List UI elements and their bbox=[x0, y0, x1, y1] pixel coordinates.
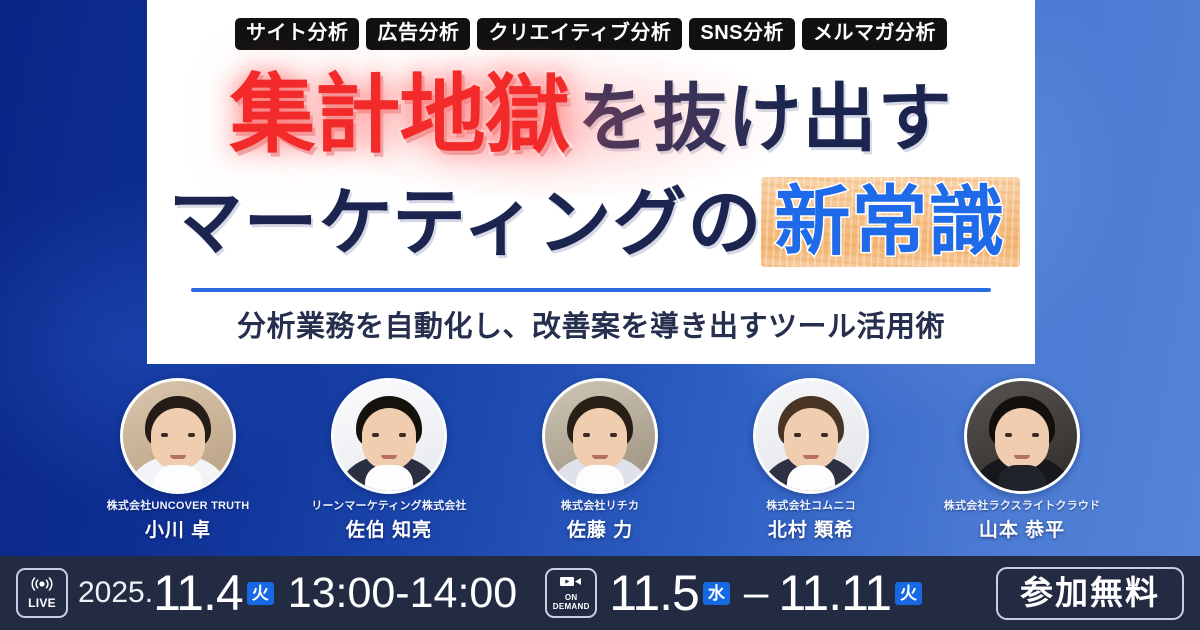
schedule-bar: LIVE 2025. 11.4 火 13:00-14:00 ON DEMAND … bbox=[0, 556, 1200, 630]
headline-highlight-red: 集計地獄 bbox=[230, 72, 570, 158]
speaker-name: 佐伯 知亮 bbox=[304, 515, 474, 542]
speaker-name: 山本 恭平 bbox=[937, 515, 1107, 542]
ondemand-badge-label-line1: ON bbox=[565, 594, 578, 602]
headline-subtitle: 分析業務を自動化し、改善案を導き出すツール活用術 bbox=[147, 303, 1035, 345]
speaker-company: 株式会社ラクスライトクラウド bbox=[937, 500, 1107, 513]
tag-sns-analysis: SNS分析 bbox=[689, 18, 795, 50]
tag-site-analysis: サイト分析 bbox=[235, 18, 360, 50]
headline-line-1: 集計地獄 を抜け出す bbox=[147, 72, 1035, 158]
avatar bbox=[331, 378, 447, 494]
avatar bbox=[542, 378, 658, 494]
headline-line-1-rest: を抜け出す bbox=[578, 82, 953, 156]
ondemand-end-date: 11.11 bbox=[778, 568, 891, 618]
speaker-company: 株式会社コムニコ bbox=[726, 500, 896, 513]
video-camera-icon bbox=[559, 575, 583, 593]
live-time: 13:00-14:00 bbox=[288, 569, 518, 618]
webinar-banner: サイト分析 広告分析 クリエイティブ分析 SNS分析 メルマガ分析 集計地獄 を… bbox=[0, 0, 1200, 630]
speaker-card-2: リーンマーケティング株式会社 佐伯 知亮 bbox=[304, 378, 474, 542]
speaker-company: 株式会社リチカ bbox=[515, 500, 685, 513]
headline-card: サイト分析 広告分析 クリエイティブ分析 SNS分析 メルマガ分析 集計地獄 を… bbox=[147, 0, 1035, 364]
speaker-card-3: 株式会社リチカ 佐藤 力 bbox=[515, 378, 685, 542]
live-badge: LIVE bbox=[16, 568, 68, 618]
ondemand-range-dash: – bbox=[744, 568, 768, 618]
free-participation-button[interactable]: 参加無料 bbox=[996, 567, 1184, 620]
speaker-card-5: 株式会社ラクスライトクラウド 山本 恭平 bbox=[937, 378, 1107, 542]
headline-line-2: マーケティングの 新常識 bbox=[147, 183, 1035, 265]
avatar bbox=[753, 378, 869, 494]
tag-ad-analysis: 広告分析 bbox=[366, 18, 470, 50]
broadcast-icon bbox=[31, 577, 53, 596]
live-badge-label: LIVE bbox=[28, 597, 56, 609]
speaker-card-4: 株式会社コムニコ 北村 類希 bbox=[726, 378, 896, 542]
live-date: 11.4 bbox=[153, 568, 243, 618]
speaker-name: 小川 卓 bbox=[93, 515, 263, 542]
speaker-list: 株式会社UNCOVER TRUTH 小川 卓 リーンマーケティング株式会社 佐伯… bbox=[0, 378, 1200, 556]
headline-line-2-lead: マーケティングの bbox=[168, 186, 762, 260]
headline-divider bbox=[191, 288, 991, 292]
speaker-company: 株式会社UNCOVER TRUTH bbox=[93, 500, 263, 513]
speaker-card-1: 株式会社UNCOVER TRUTH 小川 卓 bbox=[93, 378, 263, 542]
ondemand-start-day-of-week: 水 bbox=[703, 582, 730, 605]
speaker-name: 北村 類希 bbox=[726, 515, 896, 542]
live-day-of-week: 火 bbox=[247, 582, 274, 605]
speaker-name: 佐藤 力 bbox=[515, 515, 685, 542]
headline-marker-text: 新常識 bbox=[767, 183, 1014, 265]
tag-creative-analysis: クリエイティブ分析 bbox=[477, 18, 682, 50]
speaker-company: リーンマーケティング株式会社 bbox=[304, 500, 474, 513]
ondemand-start-date: 11.5 bbox=[609, 568, 699, 618]
live-year: 2025. bbox=[78, 576, 153, 610]
tag-mailmagazine-analysis: メルマガ分析 bbox=[802, 18, 947, 50]
avatar bbox=[964, 378, 1080, 494]
category-tag-row: サイト分析 広告分析 クリエイティブ分析 SNS分析 メルマガ分析 bbox=[147, 18, 1035, 50]
ondemand-badge: ON DEMAND bbox=[545, 568, 597, 618]
ondemand-badge-label-line2: DEMAND bbox=[553, 603, 590, 611]
ondemand-end-day-of-week: 火 bbox=[895, 582, 922, 605]
avatar bbox=[120, 378, 236, 494]
